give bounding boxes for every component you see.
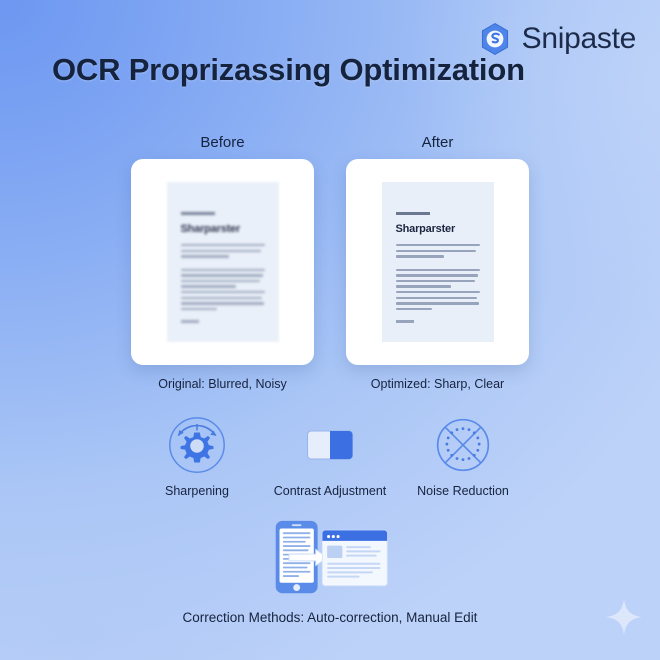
document-text-line (181, 297, 262, 299)
document-text-line (181, 250, 262, 252)
document-text-line (396, 269, 480, 271)
document-kicker-bar-icon (181, 212, 215, 215)
brand-logo: Snipaste (478, 22, 636, 56)
feature-label: Noise Reduction (417, 484, 509, 498)
document-text-line (396, 302, 479, 304)
comparison-section: Before After Sharparster (131, 134, 529, 391)
document-signature-bar-icon (181, 320, 199, 322)
after-document-title: Sharparster (396, 223, 480, 235)
before-card[interactable]: Sharparster (131, 159, 314, 365)
correction-caption: Correction Methods: Auto-correction, Man… (183, 610, 478, 625)
browser-window-document-icon (322, 530, 387, 585)
after-document-preview: Sharparster (382, 182, 494, 342)
document-text-line (181, 285, 236, 287)
paragraph-spacer (396, 261, 480, 269)
document-text-line (181, 274, 263, 276)
document-text-line (396, 291, 480, 293)
comparison-captions: Original: Blurred, Noisy Optimized: Shar… (131, 377, 529, 391)
feature-label: Sharpening (165, 484, 229, 498)
comparison-cards: Sharparster Sharparster (131, 159, 529, 365)
document-kicker-bar-icon (396, 212, 430, 215)
before-heading: Before (131, 134, 314, 151)
document-signature-bar-icon (396, 320, 414, 322)
before-document-title: Sharparster (181, 223, 265, 235)
correction-section: Correction Methods: Auto-correction, Man… (0, 520, 660, 625)
gear-sharpen-icon (167, 414, 227, 476)
feature-noise-reduction[interactable]: Noise Reduction (397, 414, 529, 498)
document-text-line (181, 291, 265, 293)
document-text-line (396, 250, 477, 252)
document-text-line (396, 274, 478, 276)
feature-label: Contrast Adjustment (274, 484, 387, 498)
snipaste-hexagon-logo-icon (478, 22, 512, 56)
document-text-line (396, 244, 480, 246)
document-text-line (396, 280, 476, 282)
paragraph-spacer (181, 261, 265, 269)
document-text-line (396, 255, 445, 257)
features-row: Sharpening Contrast Adjustment (131, 414, 529, 498)
brand-name: Snipaste (522, 22, 636, 56)
document-text-line (181, 308, 218, 310)
sparkle-star-icon (604, 597, 644, 642)
after-heading: After (346, 134, 529, 151)
after-caption: Optimized: Sharp, Clear (346, 377, 529, 391)
page-title: OCR Proprizassing Optimization (52, 52, 525, 88)
document-text-line (181, 255, 230, 257)
document-text-line (396, 297, 477, 299)
document-text-line (181, 269, 265, 271)
before-caption: Original: Blurred, Noisy (131, 377, 314, 391)
correction-illustration (267, 520, 393, 596)
document-text-line (396, 308, 433, 310)
document-text-line (396, 285, 451, 287)
contrast-split-icon (300, 414, 360, 476)
noise-reduction-icon (433, 414, 493, 476)
document-text-line (181, 244, 265, 246)
feature-sharpening[interactable]: Sharpening (131, 414, 263, 498)
document-text-line (181, 280, 261, 282)
feature-contrast-adjustment[interactable]: Contrast Adjustment (264, 414, 396, 498)
after-card[interactable]: Sharparster (346, 159, 529, 365)
comparison-headings: Before After (131, 134, 529, 151)
before-document-preview: Sharparster (167, 182, 279, 342)
document-text-line (181, 302, 264, 304)
